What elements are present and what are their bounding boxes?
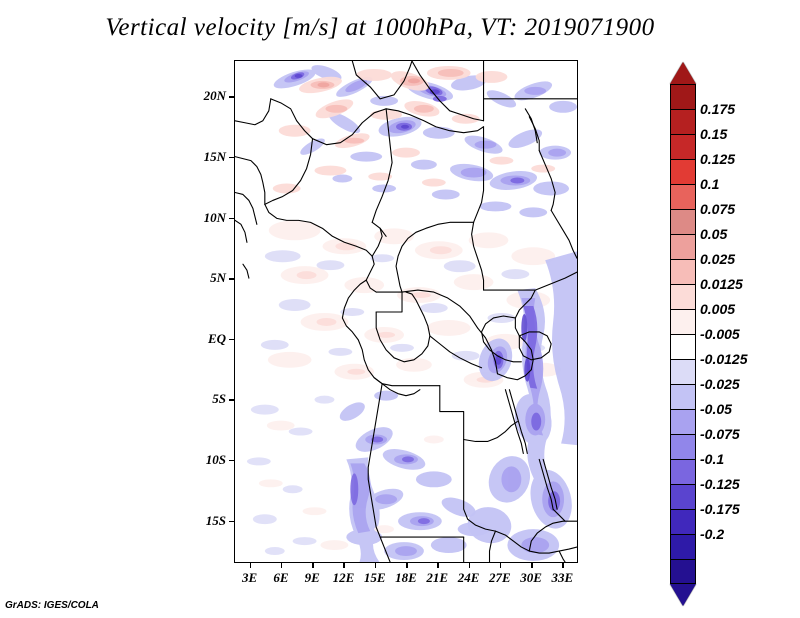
x-axis-tick [343, 562, 345, 568]
y-axis-label-10n: 10N [186, 210, 226, 226]
y-axis-tick [229, 460, 235, 462]
colorbar-band-12 [670, 384, 696, 409]
colorbar-label-0: 0.175 [700, 102, 735, 116]
colorbar-label-3: 0.1 [700, 177, 719, 191]
y-axis-label-5s: 5S [186, 391, 226, 407]
x-axis-tick [312, 562, 314, 568]
y-axis-tick [229, 521, 235, 523]
x-axis-tick [375, 562, 377, 568]
x-axis-tick [281, 562, 283, 568]
colorbar-band-1 [670, 109, 696, 134]
colorbar-label-2: 0.125 [700, 152, 735, 166]
x-axis-label-33e: 33E [542, 570, 582, 586]
colorbar-label-4: 0.075 [700, 202, 735, 216]
colorbar-label-15: -0.125 [700, 477, 740, 491]
x-axis-tick [562, 562, 564, 568]
colorbar-band-10 [670, 334, 696, 359]
colorbar [670, 62, 696, 556]
colorbar-label-17: -0.2 [700, 527, 724, 541]
colorbar-band-4 [670, 184, 696, 209]
page-title: Vertical velocity [m/s] at 1000hPa, VT: … [0, 14, 760, 42]
colorbar-band-16 [670, 484, 696, 509]
colorbar-label-9: -0.005 [700, 327, 740, 341]
colorbar-band-13 [670, 409, 696, 434]
y-axis-tick [229, 157, 235, 159]
map-plot-area [234, 60, 578, 563]
colorbar-band-2 [670, 134, 696, 159]
colorbar-band-7 [670, 259, 696, 284]
colorbar-label-8: 0.005 [700, 302, 735, 316]
x-axis-tick [250, 562, 252, 568]
colorbar-band-19 [670, 559, 696, 584]
colorbar-label-6: 0.025 [700, 252, 735, 266]
y-axis-tick [229, 278, 235, 280]
colorbar-band-11 [670, 359, 696, 384]
colorbar-label-10: -0.0125 [700, 352, 747, 366]
x-axis-tick [406, 562, 408, 568]
colorbar-band-9 [670, 309, 696, 334]
x-axis-tick [437, 562, 439, 568]
colorbar-label-13: -0.075 [700, 427, 740, 441]
colorbar-label-11: -0.025 [700, 377, 740, 391]
colorbar-label-5: 0.05 [700, 227, 727, 241]
colorbar-arrow-top [670, 62, 696, 84]
colorbar-label-16: -0.175 [700, 502, 740, 516]
colorbar-band-17 [670, 509, 696, 534]
map-canvas [235, 61, 577, 562]
y-axis-label-20n: 20N [186, 88, 226, 104]
colorbar-label-14: -0.1 [700, 452, 724, 466]
colorbar-arrow-bottom [670, 584, 696, 606]
y-axis-tick [229, 399, 235, 401]
colorbar-label-12: -0.05 [700, 402, 732, 416]
y-axis-tick [229, 96, 235, 98]
x-axis-tick [469, 562, 471, 568]
colorbar-band-6 [670, 234, 696, 259]
colorbar-label-7: 0.0125 [700, 277, 743, 291]
y-axis-label-5n: 5N [186, 270, 226, 286]
colorbar-band-8 [670, 284, 696, 309]
colorbar-band-18 [670, 534, 696, 559]
y-axis-label-10s: 10S [186, 452, 226, 468]
y-axis-tick [229, 339, 235, 341]
x-axis-tick [500, 562, 502, 568]
footer-attribution: GrADS: IGES/COLA [5, 600, 99, 611]
y-axis-label-eq: EQ [186, 331, 226, 347]
colorbar-band-0 [670, 84, 696, 109]
x-axis-tick [531, 562, 533, 568]
colorbar-band-15 [670, 459, 696, 484]
colorbar-band-3 [670, 159, 696, 184]
y-axis-label-15s: 15S [186, 513, 226, 529]
colorbar-band-5 [670, 209, 696, 234]
colorbar-label-1: 0.15 [700, 127, 727, 141]
colorbar-band-14 [670, 434, 696, 459]
y-axis-label-15n: 15N [186, 149, 226, 165]
y-axis-tick [229, 218, 235, 220]
